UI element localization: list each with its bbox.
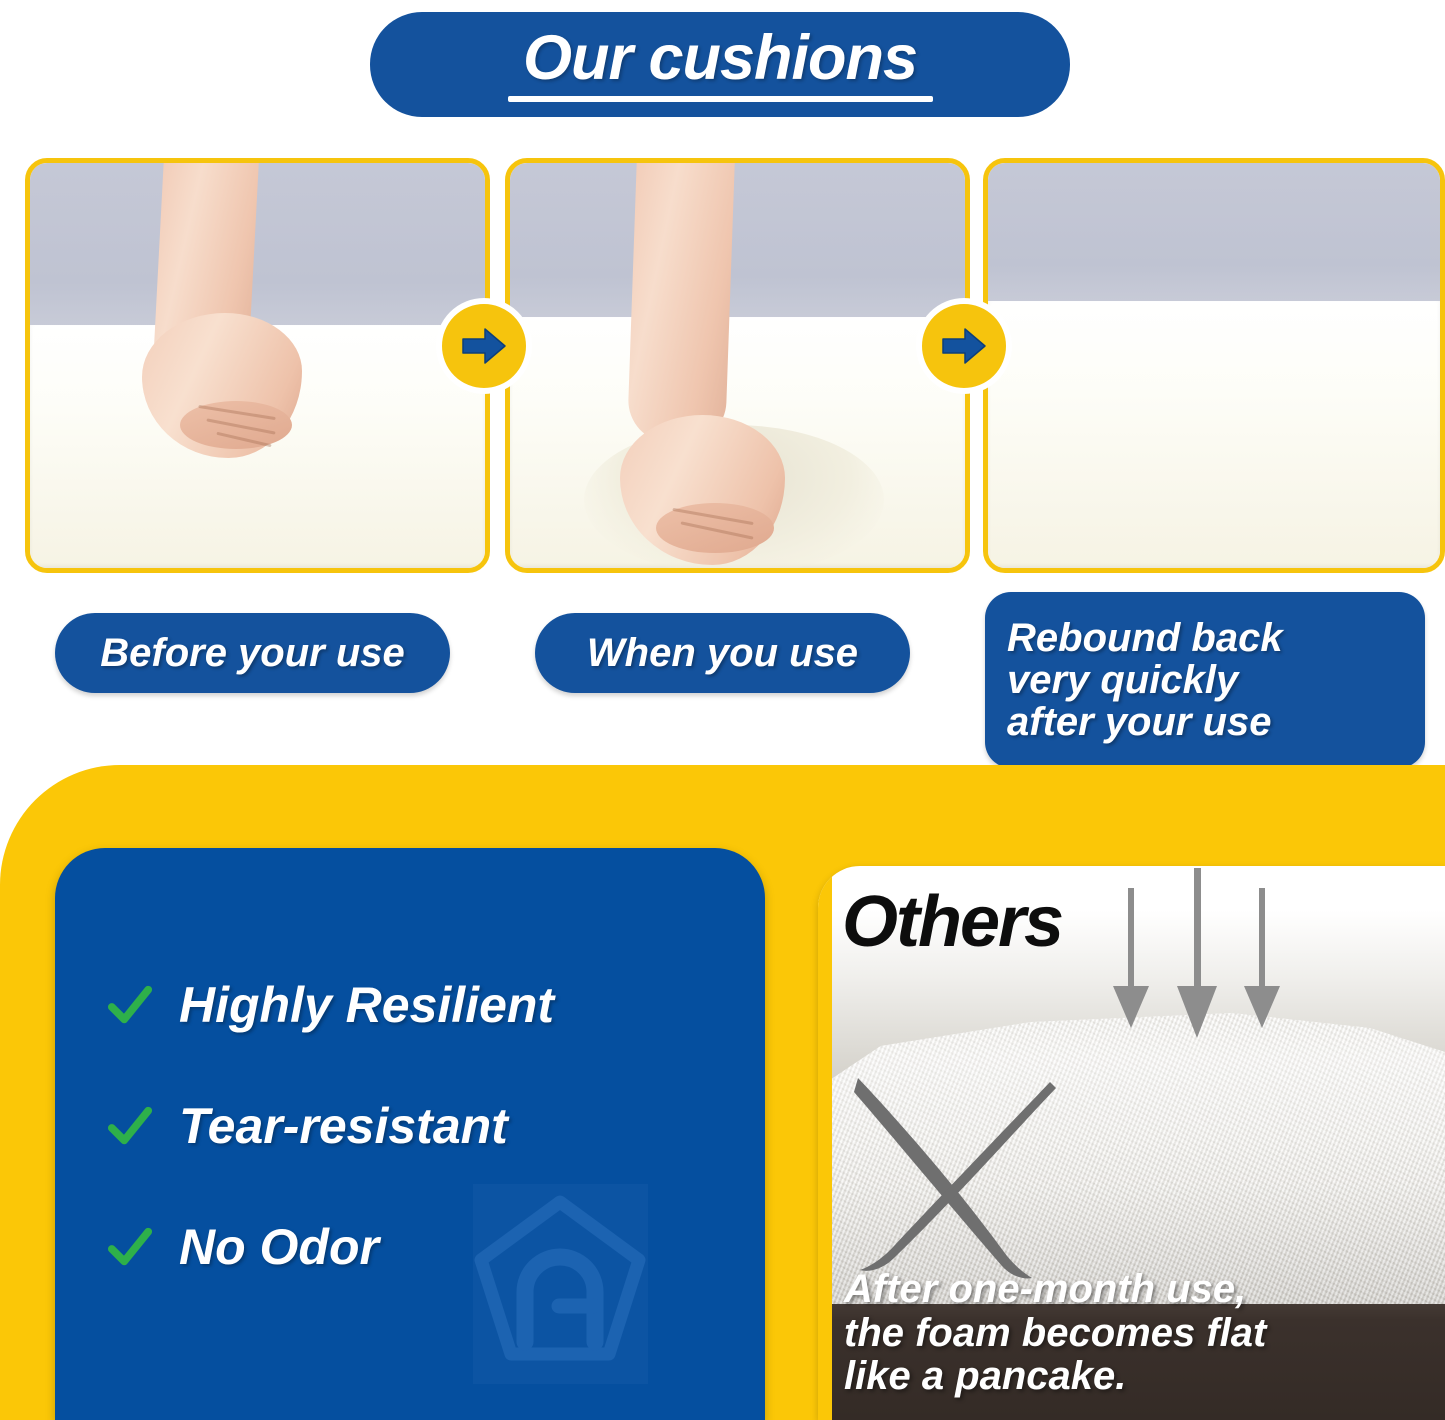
x-mark-icon xyxy=(836,1066,1086,1296)
caption-line: after your use xyxy=(1007,701,1272,743)
pressure-arrow-down-icon xyxy=(1242,888,1282,1028)
right-arrow-icon xyxy=(461,326,507,366)
title-underline xyxy=(508,96,933,102)
demo-photo-before xyxy=(25,158,490,573)
caption-line: Before your use xyxy=(100,631,405,676)
demo-photo-rebound xyxy=(983,158,1445,573)
feature-label: Tear-resistant xyxy=(179,1097,508,1155)
others-caption-line: like a pancake. xyxy=(844,1355,1266,1398)
others-caption-line: After one-month use, xyxy=(844,1268,1266,1311)
check-icon xyxy=(107,1224,153,1270)
page-title-banner: Our cushions xyxy=(370,12,1070,117)
photo-content-during xyxy=(510,163,965,568)
features-panel: Highly Resilient Tear-resistant No Odor xyxy=(55,848,765,1420)
step-arrow-1 xyxy=(436,298,532,394)
photo-background xyxy=(510,163,965,325)
feature-item: No Odor xyxy=(107,1218,379,1276)
others-comparison-card: Others After one-month use, the foam bec… xyxy=(818,866,1445,1420)
demo-photo-during xyxy=(505,158,970,573)
pressure-arrow-down-icon xyxy=(1174,868,1220,1038)
caption-before-use: Before your use xyxy=(55,613,450,693)
foam-slab xyxy=(988,301,1440,568)
others-title: Others xyxy=(842,886,1062,958)
feature-label: No Odor xyxy=(179,1218,379,1276)
feature-item: Highly Resilient xyxy=(107,976,554,1034)
photo-background xyxy=(30,163,485,333)
photo-content-rebound xyxy=(988,163,1440,568)
page-title: Our cushions xyxy=(523,27,917,90)
feature-item: Tear-resistant xyxy=(107,1097,508,1155)
caption-line: When you use xyxy=(587,631,858,676)
photo-content-before xyxy=(30,163,485,568)
others-caption-line: the foam becomes flat xyxy=(844,1312,1266,1355)
right-arrow-icon xyxy=(941,326,987,366)
check-icon xyxy=(107,1103,153,1149)
step-arrow-2 xyxy=(916,298,1012,394)
card-accent-edge xyxy=(818,866,832,1420)
caption-rebound: Rebound back very quickly after your use xyxy=(985,592,1425,768)
arm-shape xyxy=(627,163,735,445)
caption-when-using: When you use xyxy=(535,613,910,693)
pentagon-house-logo-icon xyxy=(473,1184,648,1384)
caption-line: very quickly xyxy=(1007,659,1238,701)
pressure-arrow-down-icon xyxy=(1111,888,1151,1028)
others-caption: After one-month use, the foam becomes fl… xyxy=(844,1268,1266,1398)
photo-background xyxy=(988,163,1440,309)
top-section: Our cushions xyxy=(0,0,1445,770)
check-icon xyxy=(107,982,153,1028)
caption-line: Rebound back xyxy=(1007,617,1283,659)
feature-label: Highly Resilient xyxy=(179,976,554,1034)
